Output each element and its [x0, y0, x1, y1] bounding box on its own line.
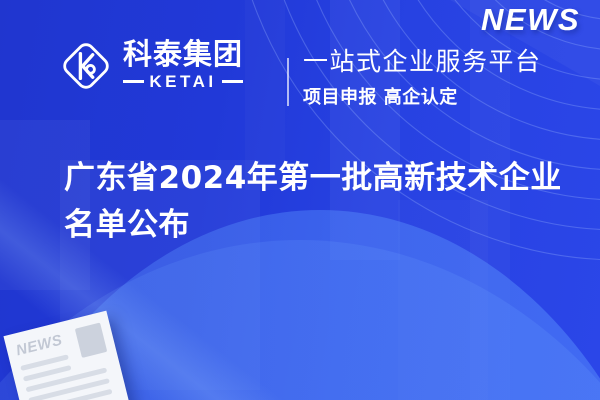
- company-logo: 科泰集团 KETAI: [58, 38, 243, 94]
- header-divider: [287, 58, 289, 106]
- tagline-block: 一站式企业服务平台 项目申报 高企认定: [303, 48, 542, 109]
- logo-rule-right: [222, 80, 243, 83]
- ketai-diamond-kp-monogram-icon: [58, 38, 114, 94]
- news-banner: 科泰集团 KETAI 一站式企业服务平台 项目申报 高企认定 NEWS 广东省2…: [0, 0, 600, 400]
- logo-wordmark: 科泰集团 KETAI: [123, 40, 243, 92]
- logo-company-name-en-row: KETAI: [123, 72, 243, 92]
- tagline-secondary: 项目申报 高企认定: [303, 83, 542, 109]
- logo-rule-left: [123, 80, 144, 83]
- page-title: 广东省2024年第一批高新技术企业名单公布: [64, 155, 564, 249]
- banner-header: 科泰集团 KETAI 一站式企业服务平台 项目申报 高企认定 NEWS: [0, 0, 600, 132]
- logo-company-name-cn: 科泰集团: [123, 40, 243, 70]
- tagline-primary: 一站式企业服务平台: [303, 48, 542, 76]
- logo-company-name-en: KETAI: [144, 72, 221, 92]
- news-label: NEWS: [481, 2, 580, 38]
